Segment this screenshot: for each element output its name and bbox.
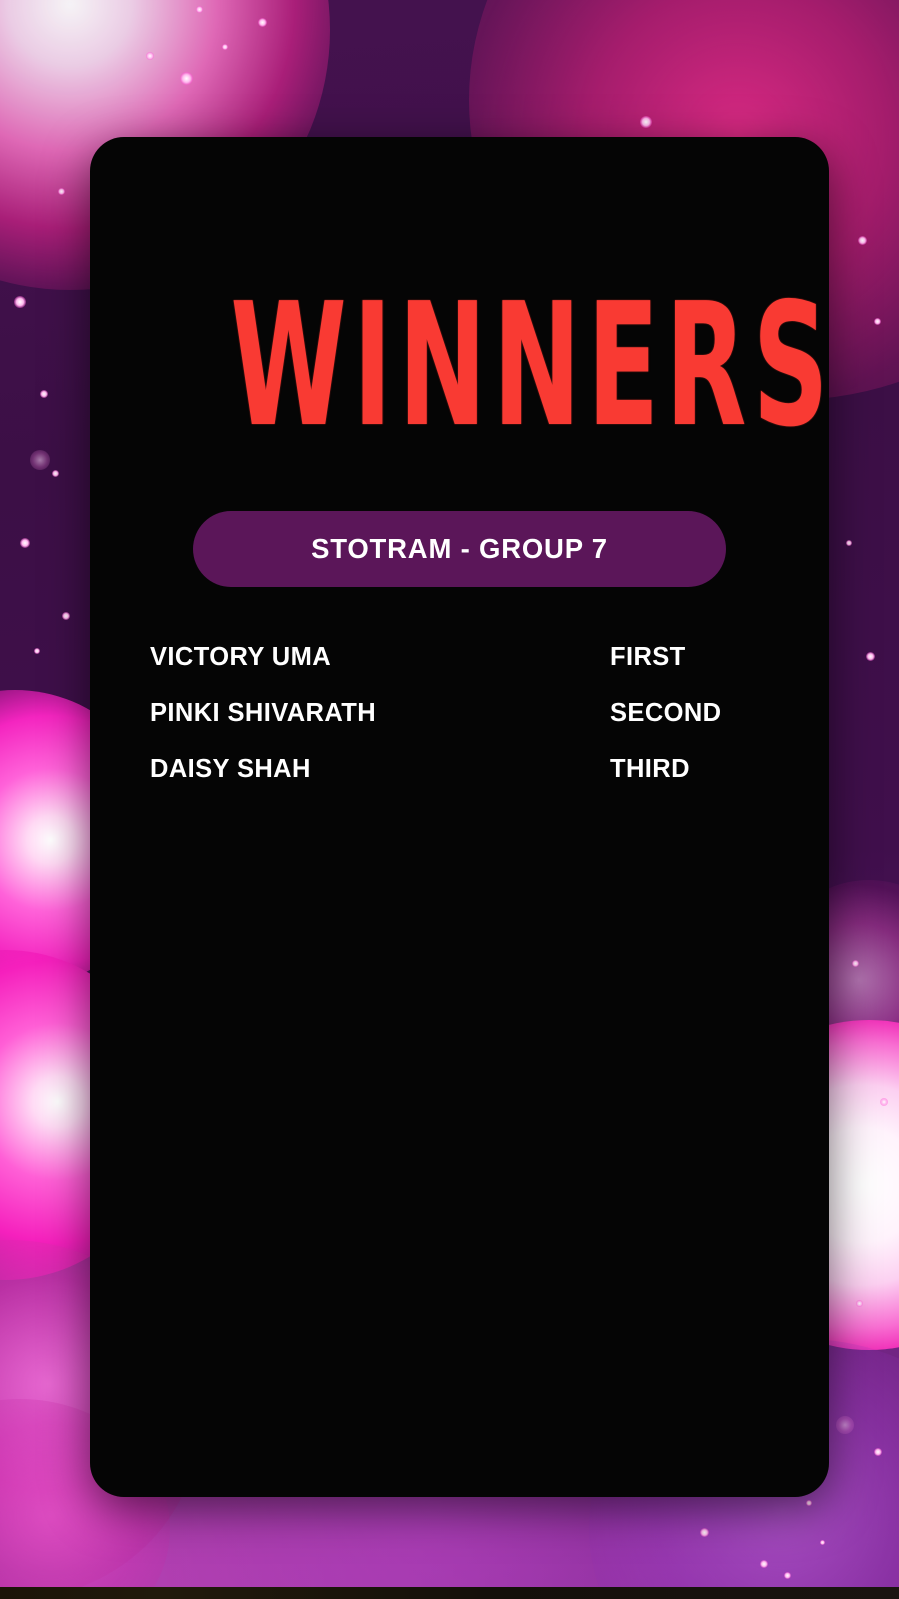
winner-rank: FIRST xyxy=(610,643,686,672)
list-item: PINKI SHIVARATH SECOND xyxy=(150,699,789,755)
bottom-edge-strip xyxy=(0,1587,899,1599)
category-badge-row: STOTRAM - GROUP 7 xyxy=(90,511,829,587)
list-item: DAISY SHAH THIRD xyxy=(150,755,789,811)
winner-name: DAISY SHAH xyxy=(150,755,610,784)
winner-name: VICTORY UMA xyxy=(150,643,610,672)
winner-rank: SECOND xyxy=(610,699,722,728)
page-title: WINNERS xyxy=(230,305,688,427)
winners-list: VICTORY UMA FIRST PINKI SHIVARATH SECOND… xyxy=(150,643,789,811)
poster-stage: WINNERS STOTRAM - GROUP 7 VICTORY UMA FI… xyxy=(0,0,899,1599)
status-badge: STOTRAM - GROUP 7 xyxy=(193,511,726,587)
winner-name: PINKI SHIVARATH xyxy=(150,699,610,728)
winners-card: WINNERS STOTRAM - GROUP 7 VICTORY UMA FI… xyxy=(90,137,829,1497)
list-item: VICTORY UMA FIRST xyxy=(150,643,789,699)
winner-rank: THIRD xyxy=(610,755,690,784)
